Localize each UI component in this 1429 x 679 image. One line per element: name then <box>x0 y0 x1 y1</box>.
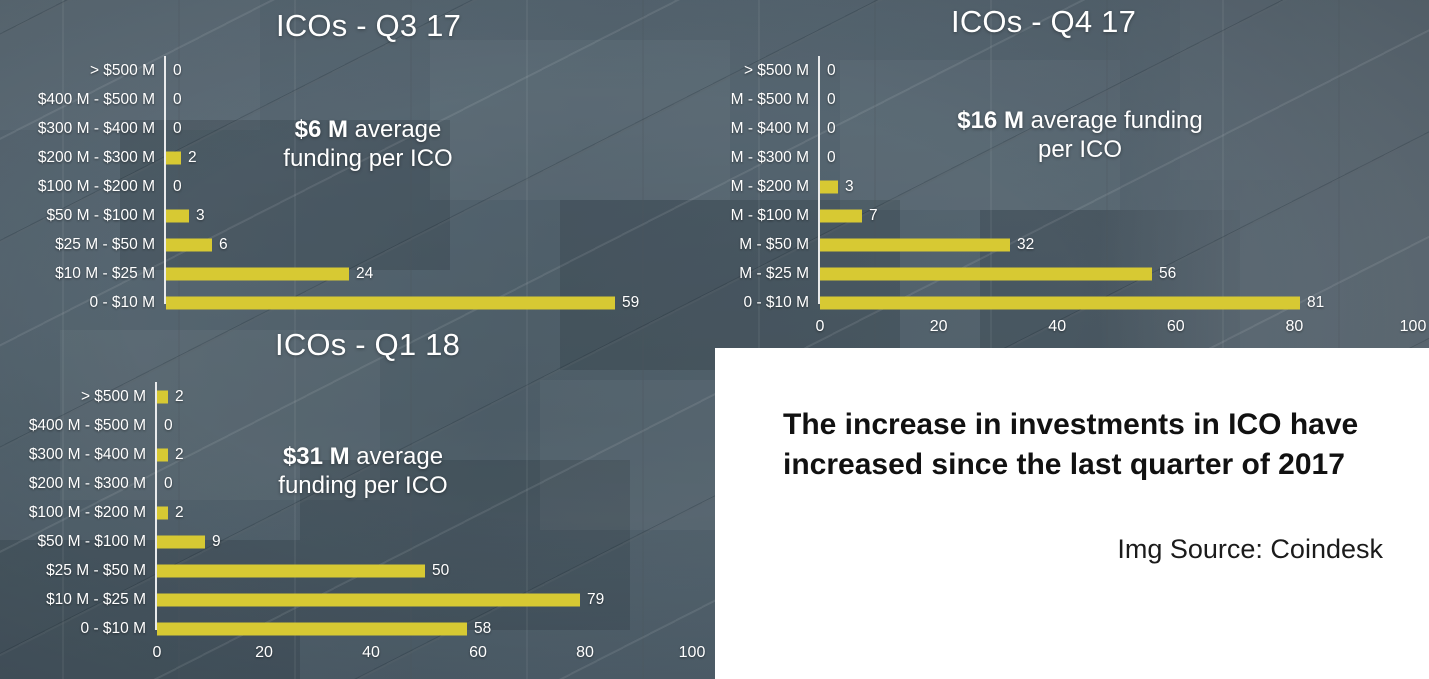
annotation-q4-17: $16 M average funding per ICO <box>885 106 1275 165</box>
category-label: M - $200 M <box>731 178 809 196</box>
bar-value-label: 2 <box>188 149 197 167</box>
x-tick-label: 80 <box>1285 318 1303 336</box>
bar-value-label: 0 <box>827 62 836 80</box>
plot-area-q3-17: > $500 M 0 $400 M - $500 M 0 $300 M - $4… <box>166 56 715 306</box>
category-label: > $500 M <box>744 62 809 80</box>
bar-value-label: 24 <box>356 265 373 283</box>
category-label: 0 - $10 M <box>81 620 146 638</box>
category-label: $100 M - $200 M <box>29 504 146 522</box>
x-tick-label: 40 <box>1048 318 1066 336</box>
bar-value-label: 6 <box>219 236 228 254</box>
chart-q3-17: ICOs - Q3 17 > $500 M 0 $400 M - $500 M … <box>0 0 715 320</box>
chart-title-q3-17: ICOs - Q3 17 <box>276 8 461 44</box>
bar <box>820 268 1152 281</box>
x-tick-label: 60 <box>469 644 487 662</box>
bar-value-label: 7 <box>869 207 878 225</box>
bar-value-label: 2 <box>175 388 184 406</box>
category-label: > $500 M <box>81 388 146 406</box>
annotation-line2: funding per ICO <box>238 471 488 500</box>
x-tick-label: 100 <box>679 644 706 662</box>
annotation-emphasis: $6 M <box>295 116 348 143</box>
bar <box>157 536 205 549</box>
x-tick-label: 80 <box>576 644 594 662</box>
bar-value-label: 2 <box>175 504 184 522</box>
bar-value-label: 81 <box>1307 294 1324 312</box>
annotation-line2: funding per ICO <box>243 144 493 173</box>
category-label: $400 M - $500 M <box>38 91 155 109</box>
bar-value-label: 3 <box>196 207 205 225</box>
category-label: $300 M - $400 M <box>38 120 155 138</box>
x-tick-label: 0 <box>816 318 825 336</box>
bar-value-label: 32 <box>1017 236 1034 254</box>
category-label: $200 M - $300 M <box>29 475 146 493</box>
category-label: $10 M - $25 M <box>55 265 155 283</box>
caption-card: The increase in investments in ICO have … <box>715 348 1429 679</box>
bar <box>166 268 349 281</box>
bar-value-label: 3 <box>845 178 854 196</box>
category-label: $100 M - $200 M <box>38 178 155 196</box>
bar <box>166 297 615 310</box>
category-label: $50 M - $100 M <box>46 207 155 225</box>
category-label: M - $500 M <box>731 91 809 109</box>
chart-q1-18: ICOs - Q1 18 > $500 M 2 $400 M - $500 M … <box>0 320 715 679</box>
bar-value-label: 0 <box>827 149 836 167</box>
x-tick-label: 20 <box>255 644 273 662</box>
chart-q4-17: ICOs - Q4 17 > $500 M 0 M - $500 M 0 M -… <box>715 0 1429 348</box>
x-tick-label: 20 <box>930 318 948 336</box>
category-label: $10 M - $25 M <box>46 591 146 609</box>
caption-source: Img Source: Coindesk <box>783 534 1401 565</box>
bar <box>157 623 467 636</box>
category-label: $25 M - $50 M <box>46 562 146 580</box>
category-label: M - $25 M <box>739 265 809 283</box>
chart-title-q1-18: ICOs - Q1 18 <box>275 327 460 363</box>
category-label: 0 - $10 M <box>744 294 809 312</box>
category-label: 0 - $10 M <box>90 294 155 312</box>
bar-value-label: 2 <box>175 446 184 464</box>
category-label: M - $400 M <box>731 120 809 138</box>
bar <box>166 152 181 165</box>
bar-value-label: 0 <box>173 178 182 196</box>
annotation-q3-17: $6 M average funding per ICO <box>243 115 493 174</box>
bar-value-label: 0 <box>164 417 173 435</box>
bar <box>820 239 1010 252</box>
bar-value-label: 0 <box>827 120 836 138</box>
bar-value-label: 0 <box>164 475 173 493</box>
bar-value-label: 79 <box>587 591 604 609</box>
bar-value-label: 9 <box>212 533 221 551</box>
bar-value-label: 0 <box>173 120 182 138</box>
bar <box>166 210 189 223</box>
annotation-rest: average funding <box>1024 107 1203 134</box>
x-tick-label: 100 <box>1400 318 1427 336</box>
category-label: M - $300 M <box>731 149 809 167</box>
x-tick-label: 60 <box>1167 318 1185 336</box>
bar-value-label: 50 <box>432 562 449 580</box>
bar-value-label: 56 <box>1159 265 1176 283</box>
category-label: $300 M - $400 M <box>29 446 146 464</box>
annotation-rest: average <box>348 116 441 143</box>
bar <box>157 507 168 520</box>
bar <box>157 449 168 462</box>
bar <box>820 210 862 223</box>
bar <box>157 594 580 607</box>
category-label: > $500 M <box>90 62 155 80</box>
bar <box>166 239 212 252</box>
x-tick-label: 0 <box>153 644 162 662</box>
annotation-line2: per ICO <box>885 135 1275 164</box>
bar <box>820 297 1300 310</box>
bar <box>157 565 425 578</box>
bar-value-label: 0 <box>827 91 836 109</box>
category-label: M - $100 M <box>731 207 809 225</box>
plot-area-q4-17: > $500 M 0 M - $500 M 0 M - $400 M 0 M -… <box>820 56 1413 306</box>
annotation-q1-18: $31 M average funding per ICO <box>238 442 488 501</box>
bar <box>820 181 838 194</box>
bar-value-label: 0 <box>173 91 182 109</box>
slide-canvas: ICOs - Q3 17 > $500 M 0 $400 M - $500 M … <box>0 0 1429 679</box>
category-label: M - $50 M <box>739 236 809 254</box>
bar-value-label: 59 <box>622 294 639 312</box>
annotation-emphasis: $31 M <box>283 443 350 470</box>
category-label: $25 M - $50 M <box>55 236 155 254</box>
plot-area-q1-18: > $500 M 2 $400 M - $500 M 0 $300 M - $4… <box>157 382 692 632</box>
chart-title-q4-17: ICOs - Q4 17 <box>951 4 1136 40</box>
bar-value-label: 58 <box>474 620 491 638</box>
category-label: $200 M - $300 M <box>38 149 155 167</box>
annotation-emphasis: $16 M <box>957 107 1024 134</box>
bar-value-label: 0 <box>173 62 182 80</box>
category-label: $400 M - $500 M <box>29 417 146 435</box>
bar <box>157 391 168 404</box>
x-tick-label: 40 <box>362 644 380 662</box>
category-label: $50 M - $100 M <box>37 533 146 551</box>
caption-headline: The increase in investments in ICO have … <box>783 405 1383 485</box>
annotation-rest: average <box>350 443 443 470</box>
